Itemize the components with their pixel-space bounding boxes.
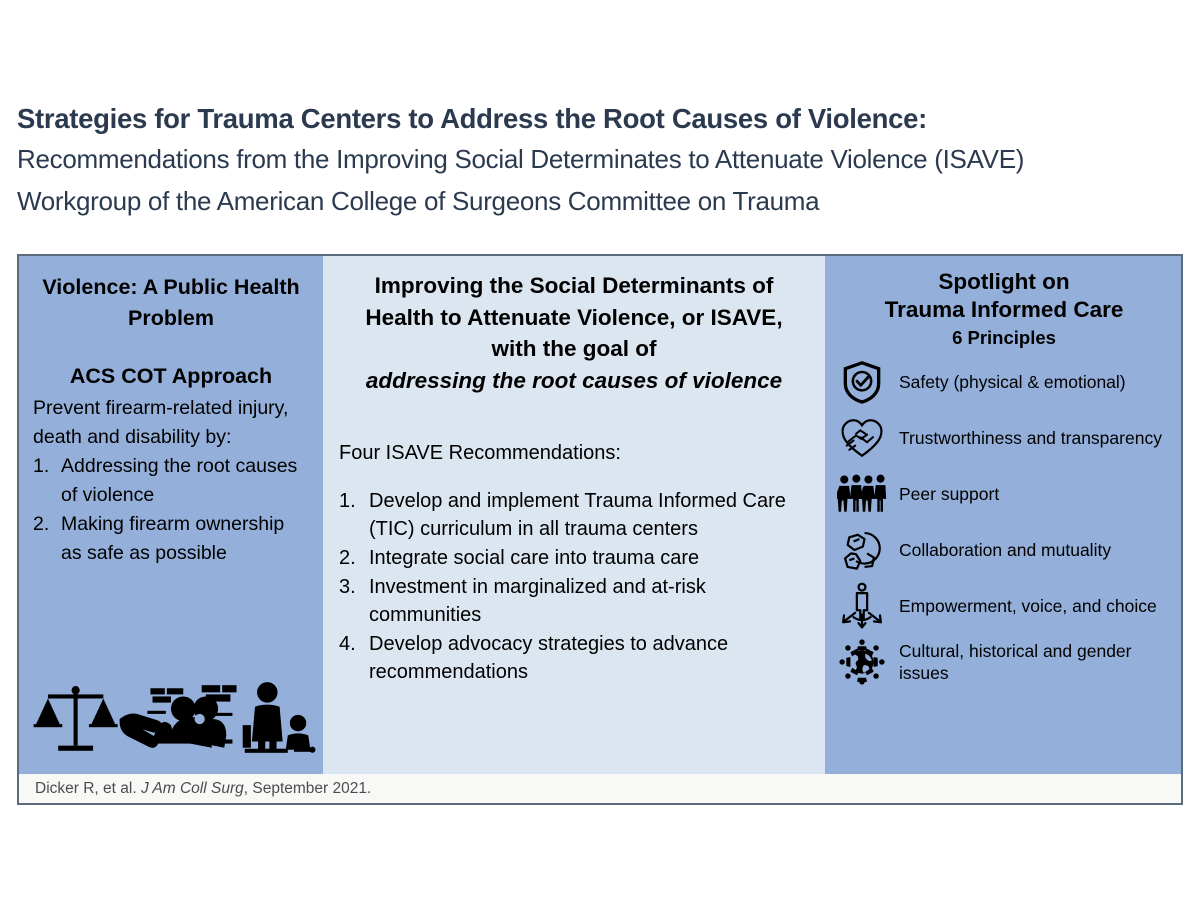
list-item-number: 1. (339, 487, 359, 543)
principle-label: Safety (physical & emotional) (899, 371, 1126, 393)
left-panel-intro: Prevent firearm-related injury, death an… (33, 394, 309, 452)
panel-trauma-informed-care: Spotlight on Trauma Informed Care 6 Prin… (825, 256, 1181, 774)
title-line-1: Strategies for Trauma Centers to Address… (17, 100, 1177, 138)
middle-heading-italic: addressing the root causes of violence (339, 365, 809, 397)
principle-peer-support: Peer support (835, 470, 1173, 518)
principle-label: Collaboration and mutuality (899, 539, 1111, 561)
page-title: Strategies for Trauma Centers to Address… (17, 100, 1177, 222)
principle-cultural: Cultural, historical and gender issues (835, 638, 1173, 686)
panels-row: Violence: A Public Health Problem ACS CO… (19, 256, 1181, 774)
globe-diverse-people-icon (835, 638, 889, 686)
principle-collaboration: Collaboration and mutuality (835, 526, 1173, 574)
principle-safety: Safety (physical & emotional) (835, 358, 1173, 406)
figure-footer: Dicker R, et al. J Am Coll Surg, Septemb… (19, 774, 1181, 803)
list-item: 1. Develop and implement Trauma Informed… (339, 487, 809, 543)
citation: Dicker R, et al. J Am Coll Surg, Septemb… (35, 780, 371, 798)
list-item-number: 4. (339, 630, 359, 686)
principle-label: Peer support (899, 483, 999, 505)
middle-heading-line-1: Improving the Social Determinants of (375, 273, 774, 298)
list-item-number: 2. (339, 544, 359, 572)
adult-child-silhouette-icon (243, 682, 316, 753)
handshake-heart-icon (835, 414, 889, 462)
right-panel-subheading: 6 Principles (835, 326, 1173, 350)
title-line-2: Recommendations from the Improving Socia… (17, 138, 1177, 180)
right-panel-heading: Spotlight on Trauma Informed Care (835, 268, 1173, 324)
isave-recommendations-list: 1. Develop and implement Trauma Informed… (339, 487, 809, 686)
list-item-label: Making firearm ownership as safe as poss… (61, 510, 309, 568)
left-panel-subheading: ACS COT Approach (33, 362, 309, 390)
list-item-label: Integrate social care into trauma care (369, 544, 699, 572)
person-arrows-empowerment-icon (835, 582, 889, 630)
list-item-number: 2. (33, 510, 53, 568)
left-panel-list: 1. Addressing the root causes of violenc… (33, 452, 309, 568)
list-item: 4. Develop advocacy strategies to advanc… (339, 630, 809, 686)
left-panel-heading: Violence: A Public Health Problem (33, 272, 309, 334)
graphical-abstract-figure: Violence: A Public Health Problem ACS CO… (17, 254, 1183, 805)
list-item: 2. Integrate social care into trauma car… (339, 544, 809, 572)
list-item-label: Addressing the root causes of violence (61, 452, 309, 510)
shield-check-icon (835, 358, 889, 406)
list-item-label: Develop advocacy strategies to advance r… (369, 630, 809, 686)
principle-trustworthiness: Trustworthiness and transparency (835, 414, 1173, 462)
list-item-label: Develop and implement Trauma Informed Ca… (369, 487, 809, 543)
group-of-people-icon (835, 470, 889, 518)
panel-isave: Improving the Social Determinants of Hea… (323, 256, 825, 774)
right-heading-line-1: Spotlight on (938, 269, 1069, 294)
middle-heading-line-2: Health to Attenuate Violence, or ISAVE, (365, 305, 782, 330)
scales-of-justice-hand-icon (34, 686, 163, 751)
principle-empowerment: Empowerment, voice, and choice (835, 582, 1173, 630)
principle-label: Trustworthiness and transparency (899, 427, 1162, 449)
principle-label: Empowerment, voice, and choice (899, 595, 1157, 617)
list-item-label: Investment in marginalized and at-risk c… (369, 573, 809, 629)
title-line-3: Workgroup of the American College of Sur… (17, 180, 1177, 222)
principle-label: Cultural, historical and gender issues (899, 640, 1173, 684)
list-item: 2. Making firearm ownership as safe as p… (33, 510, 309, 568)
list-item: 1. Addressing the root causes of violenc… (33, 452, 309, 510)
list-item: 3. Investment in marginalized and at-ris… (339, 573, 809, 629)
middle-heading-line-3: with the goal of (492, 336, 657, 361)
citation-journal: J Am Coll Surg (141, 780, 244, 797)
list-item-number: 3. (339, 573, 359, 629)
middle-panel-subheading: Four ISAVE Recommendations: (339, 442, 809, 465)
right-heading-line-2: Trauma Informed Care (885, 297, 1124, 322)
list-item-number: 1. (33, 452, 53, 510)
citation-authors: Dicker R, et al. (35, 780, 141, 797)
two-hands-collaboration-icon (835, 526, 889, 574)
left-panel-icon-strip (29, 678, 317, 760)
poverty-family-bricks-icon (147, 685, 236, 748)
citation-date: , September 2021. (244, 780, 372, 797)
panel-violence-public-health: Violence: A Public Health Problem ACS CO… (19, 256, 323, 774)
middle-panel-heading: Improving the Social Determinants of Hea… (339, 270, 809, 396)
